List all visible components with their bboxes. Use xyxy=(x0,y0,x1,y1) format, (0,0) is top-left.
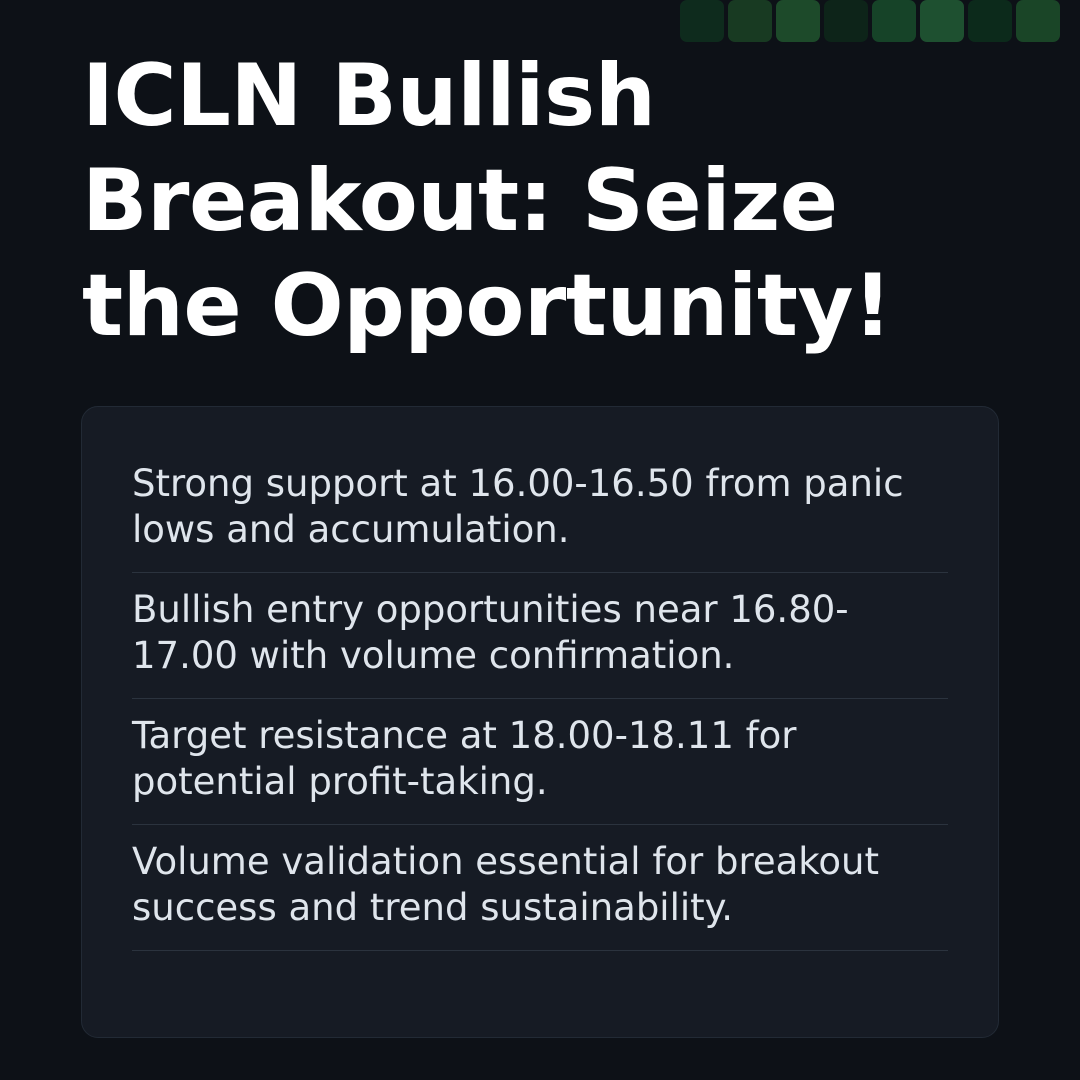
accent-square-2 xyxy=(728,0,772,42)
key-point-item: Volume validation essential for breakout… xyxy=(132,825,948,951)
accent-square-8 xyxy=(1016,0,1060,42)
key-point-item: Target resistance at 18.00-18.11 for pot… xyxy=(132,699,948,825)
key-point-item: Strong support at 16.00-16.50 from panic… xyxy=(132,451,948,573)
accent-square-6 xyxy=(920,0,964,42)
page-title-line-2: Breakout: Seize xyxy=(82,149,982,254)
page-title: ICLN BullishBreakout: Seizethe Opportuni… xyxy=(82,44,982,359)
accent-square-1 xyxy=(680,0,724,42)
accent-strip xyxy=(680,0,1060,42)
poster-root: ICLN BullishBreakout: Seizethe Opportuni… xyxy=(0,0,1080,1080)
key-points-card: Strong support at 16.00-16.50 from panic… xyxy=(81,406,999,1038)
key-point-item: Bullish entry opportunities near 16.80-1… xyxy=(132,573,948,699)
accent-square-4 xyxy=(824,0,868,42)
page-title-line-3: the Opportunity! xyxy=(82,254,982,359)
accent-square-5 xyxy=(872,0,916,42)
page-title-line-1: ICLN Bullish xyxy=(82,44,982,149)
accent-square-7 xyxy=(968,0,1012,42)
accent-square-3 xyxy=(776,0,820,42)
key-points-list: Strong support at 16.00-16.50 from panic… xyxy=(132,451,948,951)
